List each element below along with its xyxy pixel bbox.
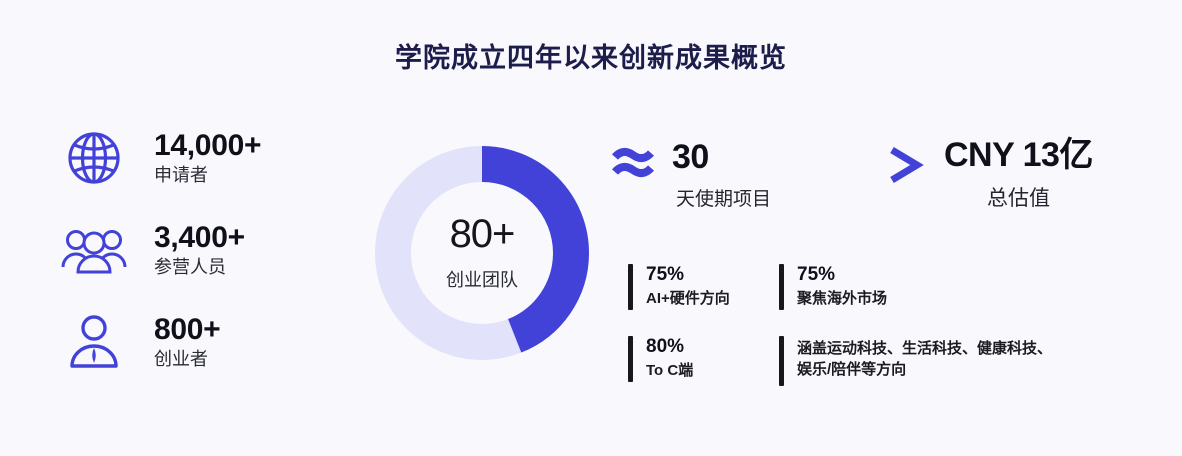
percent-block-ai-hardware: 75% AI+硬件方向 xyxy=(628,264,730,310)
percent-body: 75% AI+硬件方向 xyxy=(633,264,730,310)
percent-block-sectors: 涵盖运动科技、生活科技、健康科技、 娱乐/陪伴等方向 xyxy=(779,336,1052,386)
percent-label: 涵盖运动科技、生活科技、健康科技、 娱乐/陪伴等方向 xyxy=(797,339,1052,380)
percent-label: AI+硬件方向 xyxy=(646,289,730,310)
percent-body: 涵盖运动科技、生活科技、健康科技、 娱乐/陪伴等方向 xyxy=(784,336,1052,386)
percent-value: 75% xyxy=(646,264,730,286)
percent-body: 80% To C端 xyxy=(633,336,693,382)
stat-text: 800+ 创业者 xyxy=(130,313,220,372)
stat-row: 800+ 创业者 xyxy=(58,296,358,388)
stat-label: 创业者 xyxy=(154,348,220,371)
person-icon xyxy=(58,312,130,372)
highlight-body: 30 天使期项目 xyxy=(654,140,771,211)
percent-block-overseas-market: 75% 聚焦海外市场 xyxy=(779,264,887,310)
donut-chart: 80+ 创业团队 xyxy=(374,145,590,361)
percent-block-to-c: 80% To C端 xyxy=(628,336,693,382)
stat-value: 3,400+ xyxy=(154,221,245,255)
stat-label: 申请者 xyxy=(154,164,261,187)
highlight-body: CNY 13亿 总估值 xyxy=(926,138,1093,212)
stat-value: 14,000+ xyxy=(154,129,261,163)
highlight-angel-projects: 30 天使期项目 xyxy=(612,140,771,211)
greater-than-icon xyxy=(884,138,926,186)
highlight-label: 天使期项目 xyxy=(672,184,771,211)
globe-icon xyxy=(58,129,130,187)
highlight-value: 30 xyxy=(672,140,771,176)
left-stats-column: 14,000+ 申请者 3,400+ 参营人员 xyxy=(58,112,358,388)
approximately-icon xyxy=(612,140,654,182)
stat-row: 3,400+ 参营人员 xyxy=(58,204,358,296)
percent-label: 聚焦海外市场 xyxy=(797,289,887,310)
percent-label: To C端 xyxy=(646,361,693,382)
percent-body: 75% 聚焦海外市场 xyxy=(784,264,887,310)
highlight-label: 总估值 xyxy=(944,182,1093,212)
stat-text: 14,000+ 申请者 xyxy=(130,129,261,188)
highlight-value: CNY 13亿 xyxy=(944,138,1093,174)
highlight-total-valuation: CNY 13亿 总估值 xyxy=(884,138,1093,212)
stat-text: 3,400+ 参营人员 xyxy=(130,221,245,280)
percent-value: 80% xyxy=(646,336,693,358)
percent-value: 75% xyxy=(797,264,887,286)
page-title: 学院成立四年以来创新成果概览 xyxy=(0,36,1182,75)
stat-label: 参营人员 xyxy=(154,256,245,279)
people-group-icon xyxy=(58,224,130,276)
stat-value: 800+ xyxy=(154,313,220,347)
stat-row: 14,000+ 申请者 xyxy=(58,112,358,204)
